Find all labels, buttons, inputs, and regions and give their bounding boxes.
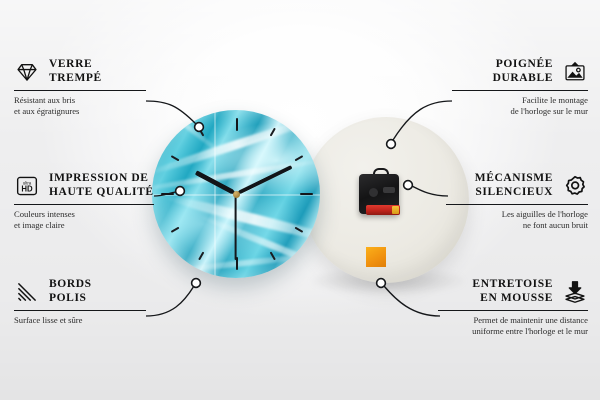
svg-text:HD: HD	[21, 184, 33, 193]
callout-description: Couleurs intenses et image claire	[14, 209, 154, 231]
callout-rule	[14, 90, 146, 91]
clock-second-hand	[235, 194, 237, 260]
callout-mecanisme-silencieux: MÉCANISMESILENCIEUX Les aiguilles de l'h…	[446, 172, 588, 231]
foam-spacer-pad	[366, 247, 386, 267]
callout-rule	[14, 310, 146, 311]
callout-title: ENTRETOISEEN MOUSSE	[472, 278, 553, 305]
arrow-onto-layers-icon	[562, 279, 588, 305]
hanging-picture-icon	[562, 59, 588, 85]
callout-poignee-durable: POIGNÉEDURABLE Facilite le montage de l'…	[452, 58, 588, 117]
callout-rule	[446, 204, 588, 205]
callout-header: ENTRETOISEEN MOUSSE	[438, 278, 588, 305]
callout-header: MÉCANISMESILENCIEUX	[446, 172, 588, 199]
callout-entretoise-mousse: ENTRETOISEEN MOUSSE Permet de maintenir …	[438, 278, 588, 337]
diamond-icon	[14, 59, 40, 85]
callout-description: Surface lisse et sûre	[14, 315, 146, 326]
callout-description: Permet de maintenir une distance uniform…	[438, 315, 588, 337]
leader-bords	[146, 286, 194, 316]
callout-description: Facilite le montage de l'horloge sur le …	[452, 95, 588, 117]
foam-spacer	[366, 247, 390, 269]
callout-rule	[452, 90, 588, 91]
leader-node-bords	[192, 279, 201, 288]
callout-verre-trempe: VERRETREMPÉ Résistant aux bris et aux ég…	[14, 58, 146, 117]
callout-rule	[438, 310, 588, 311]
infographic-canvas: VERRETREMPÉ Résistant aux bris et aux ég…	[0, 0, 600, 400]
callout-bords-polis: BORDSPOLIS Surface lisse et sûre	[14, 278, 146, 326]
ultra-hd-badge-icon: ultra HD	[14, 173, 40, 199]
quartz-mechanism	[355, 168, 403, 216]
mechanism-body	[359, 174, 399, 214]
mechanism-dial-knob	[369, 188, 378, 197]
callout-title: POIGNÉEDURABLE	[493, 58, 553, 85]
callout-title: IMPRESSION DEHAUTE QUALITÉ	[49, 172, 154, 199]
clock-front-face	[152, 110, 320, 278]
callout-title: BORDSPOLIS	[49, 278, 92, 305]
callout-header: VERRETREMPÉ	[14, 58, 146, 85]
callout-description: Résistant aux bris et aux égratignures	[14, 95, 146, 117]
callout-title: VERRETREMPÉ	[49, 58, 102, 85]
callout-impression: ultra HD IMPRESSION DEHAUTE QUALITÉ Coul…	[14, 172, 154, 231]
polished-edge-icon	[14, 279, 40, 305]
clock-center-cap	[233, 191, 240, 198]
callout-rule	[14, 204, 154, 205]
clock-tick-12	[236, 118, 238, 131]
mechanism-label-strip	[383, 187, 395, 193]
callout-header: POIGNÉEDURABLE	[452, 58, 588, 85]
callout-header: ultra HD IMPRESSION DEHAUTE QUALITÉ	[14, 172, 154, 199]
gear-icon	[562, 173, 588, 199]
callout-description: Les aiguilles de l'horloge ne font aucun…	[446, 209, 588, 231]
clock-tick-9	[161, 193, 174, 195]
callout-header: BORDSPOLIS	[14, 278, 146, 305]
battery	[366, 205, 400, 215]
clock-tick-3	[300, 193, 313, 195]
callout-title: MÉCANISMESILENCIEUX	[475, 172, 553, 199]
